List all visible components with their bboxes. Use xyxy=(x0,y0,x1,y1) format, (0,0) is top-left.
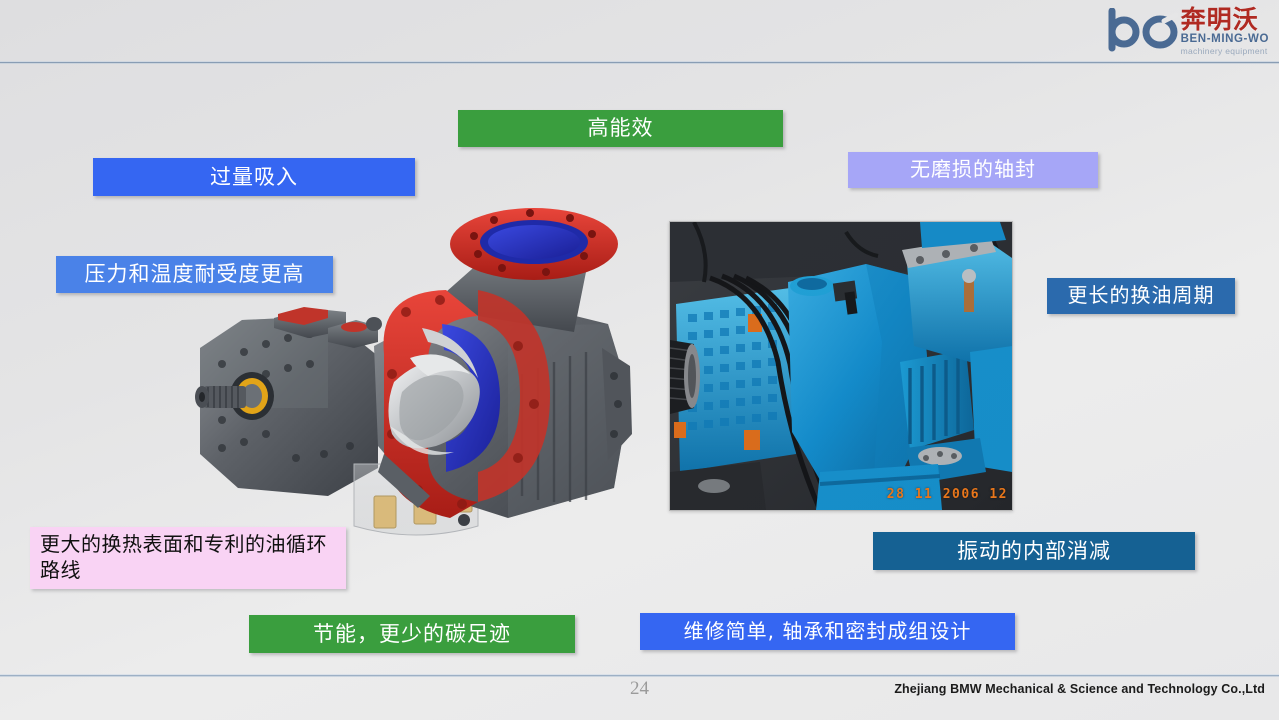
callout-internal-vibration-reduction: 振动的内部消减 xyxy=(873,532,1195,570)
screw-compressor-cutaway-render xyxy=(178,196,648,546)
callout-wearfree-shaft-seal: 无磨损的轴封 xyxy=(848,152,1098,188)
logo-english-name: BEN-MING-WO xyxy=(1181,34,1269,46)
photo-date-stamp: 28 11 2006 12 xyxy=(887,487,1008,502)
bo-monogram-icon xyxy=(1106,8,1178,54)
callout-larger-heat-exchange-surface: 更大的换热表面和专利的油循环路线 xyxy=(30,527,346,589)
callout-label-text: 更大的换热表面和专利的油循环路线 xyxy=(40,532,336,583)
callout-label-text: 过量吸入 xyxy=(93,164,415,191)
callout-label-text: 节能，更少的碳足迹 xyxy=(249,621,575,648)
callout-label-text: 振动的内部消减 xyxy=(873,538,1195,565)
footer-company-name: Zhejiang BMW Mechanical & Science and Te… xyxy=(894,682,1265,696)
presentation-slide: 奔明沃 BEN-MING-WO machinery equipment xyxy=(0,0,1279,720)
callout-longer-oil-change-interval: 更长的换油周期 xyxy=(1047,278,1235,314)
callout-pressure-temperature-tolerance: 压力和温度耐受度更高 xyxy=(56,256,333,293)
callout-label-text: 更长的换油周期 xyxy=(1047,283,1235,309)
company-logo: 奔明沃 BEN-MING-WO machinery equipment xyxy=(1089,4,1269,58)
callout-energy-saving-low-carbon: 节能，更少的碳足迹 xyxy=(249,615,575,653)
callout-over-suction: 过量吸入 xyxy=(93,158,415,196)
callout-easy-maintenance: 维修简单, 轴承和密封成组设计 xyxy=(640,613,1015,650)
blue-compressor-photo: 28 11 2006 12 xyxy=(669,221,1013,511)
callout-label-text: 无磨损的轴封 xyxy=(848,157,1098,183)
header-divider xyxy=(0,61,1279,64)
logo-tagline: machinery equipment xyxy=(1181,47,1268,56)
logo-text-block: 奔明沃 BEN-MING-WO machinery equipment xyxy=(1181,7,1269,55)
callout-high-efficiency: 高能效 xyxy=(458,110,783,147)
logo-chinese-name: 奔明沃 xyxy=(1181,7,1259,32)
footer-divider xyxy=(0,674,1279,677)
callout-label-text: 维修简单, 轴承和密封成组设计 xyxy=(640,619,1015,645)
callout-label-text: 高能效 xyxy=(458,115,783,142)
callout-label-text: 压力和温度耐受度更高 xyxy=(56,261,333,288)
